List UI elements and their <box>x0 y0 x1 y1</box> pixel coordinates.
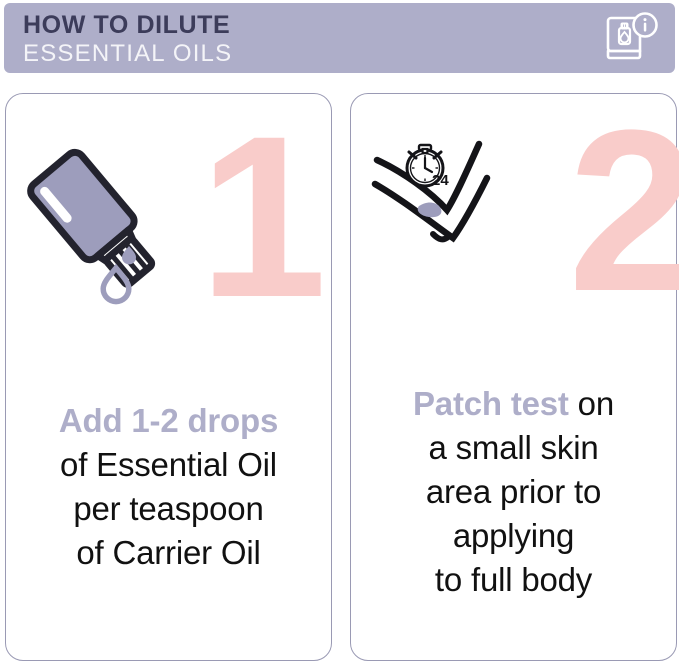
step-caption-1: Add 1-2 drops of Essential Oil per teasp… <box>6 399 331 575</box>
step-card-2[interactable]: 2 <box>350 93 677 661</box>
step-caption-2-line-2: area prior to <box>351 470 676 514</box>
oil-bottle-info-icon <box>605 12 659 64</box>
step-caption-2-highlight: Patch test <box>413 385 569 422</box>
stopwatch-hours-label: 24 <box>432 172 449 189</box>
step-caption-2-line-3: applying <box>351 514 676 558</box>
step-caption-1-line-3: of Carrier Oil <box>6 531 331 575</box>
page-title: HOW TO DILUTE <box>23 11 232 40</box>
header-bar: HOW TO DILUTE ESSENTIAL OILS <box>4 3 675 73</box>
dropper-bottle-icon <box>20 134 180 314</box>
steps-container: 1 <box>0 93 679 663</box>
step-number-1: 1 <box>199 102 321 332</box>
header-text-block: HOW TO DILUTE ESSENTIAL OILS <box>23 11 232 68</box>
step-caption-2-line-1: a small skin <box>351 426 676 470</box>
step-caption-2-line-4: to full body <box>351 558 676 602</box>
arm-patch-test-stopwatch-icon: 24 <box>371 122 541 262</box>
step-caption-2-line-0: Patch test on <box>351 382 676 426</box>
step-number-2: 2 <box>568 96 679 326</box>
step-caption-1-line-2: per teaspoon <box>6 487 331 531</box>
step-card-1[interactable]: 1 <box>5 93 332 661</box>
step-caption-1-highlight: Add 1-2 drops <box>6 399 331 443</box>
page-subtitle: ESSENTIAL OILS <box>23 40 232 68</box>
step-caption-2: Patch test on a small skin area prior to… <box>351 382 676 602</box>
step-caption-1-line-1: of Essential Oil <box>6 443 331 487</box>
step-caption-2-suffix: on <box>569 385 614 422</box>
